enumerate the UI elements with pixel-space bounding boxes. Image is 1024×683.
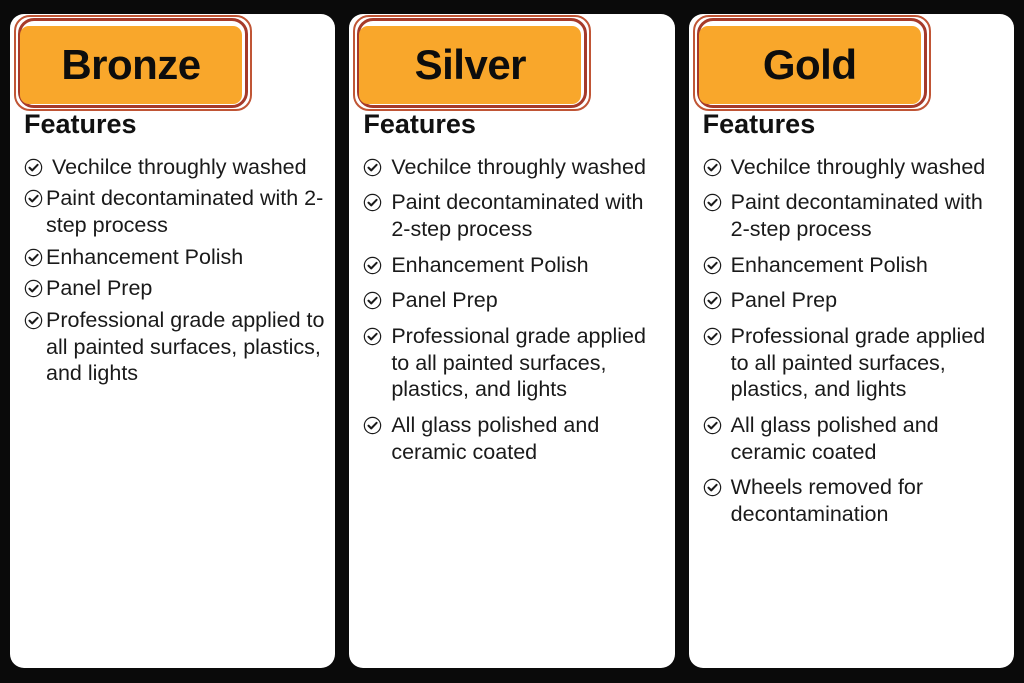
check-circle-icon: [363, 193, 382, 212]
list-item: Paint decontaminated with 2-step process: [363, 189, 664, 242]
check-circle-icon: [24, 311, 43, 330]
check-circle-icon: [24, 189, 43, 208]
feature-text: Enhancement Polish: [46, 244, 325, 271]
feature-text: Paint decontaminated with 2-step process: [731, 189, 1004, 242]
feature-text: All glass polished and ceramic coated: [731, 412, 1004, 465]
feature-text: Enhancement Polish: [731, 252, 1004, 279]
feature-list-gold: Vechilce throughly washed Paint decontam…: [689, 154, 1014, 668]
list-item: Professional grade applied to all painte…: [703, 323, 1004, 403]
check-circle-icon: [363, 291, 382, 310]
feature-text: Panel Prep: [391, 287, 664, 314]
feature-list-silver: Vechilce throughly washed Paint decontam…: [349, 154, 674, 668]
tier-badge-silver: Silver: [359, 26, 581, 104]
list-item: Paint decontaminated with 2-step process: [24, 185, 325, 238]
list-item: Vechilce throughly washed: [363, 154, 664, 181]
tier-card-gold[interactable]: Gold Features Vechilce throughly washed …: [689, 14, 1014, 668]
list-item: Panel Prep: [363, 287, 664, 314]
tier-card-silver[interactable]: Silver Features Vechilce throughly washe…: [349, 14, 674, 668]
feature-text: Vechilce throughly washed: [391, 154, 664, 181]
card-header-silver: Silver: [349, 14, 674, 110]
feature-text: Professional grade applied to all painte…: [46, 307, 325, 387]
list-item: Enhancement Polish: [24, 244, 325, 271]
check-circle-icon: [703, 416, 722, 435]
features-heading-silver: Features: [349, 110, 674, 140]
feature-text: Panel Prep: [46, 275, 325, 302]
check-circle-icon: [703, 291, 722, 310]
list-item: Professional grade applied to all painte…: [24, 307, 325, 387]
check-circle-icon: [363, 416, 382, 435]
check-circle-icon: [24, 158, 43, 177]
check-circle-icon: [363, 256, 382, 275]
feature-text: Professional grade applied to all painte…: [731, 323, 1004, 403]
pricing-tier-board: Bronze Features Vechilce throughly washe…: [0, 0, 1024, 683]
feature-list-bronze: Vechilce throughly washed Paint decontam…: [10, 154, 335, 668]
feature-text: Wheels removed for decontamination: [731, 474, 1004, 527]
tier-name-gold: Gold: [763, 44, 857, 86]
features-heading-bronze: Features: [10, 110, 335, 140]
feature-text: Panel Prep: [731, 287, 1004, 314]
check-circle-icon: [703, 327, 722, 346]
feature-text: All glass polished and ceramic coated: [391, 412, 664, 465]
check-circle-icon: [24, 248, 43, 267]
feature-text: Professional grade applied to all painte…: [391, 323, 664, 403]
list-item: Panel Prep: [24, 275, 325, 302]
check-circle-icon: [363, 158, 382, 177]
list-item: Wheels removed for decontamination: [703, 474, 1004, 527]
feature-text: Enhancement Polish: [391, 252, 664, 279]
list-item: All glass polished and ceramic coated: [703, 412, 1004, 465]
feature-text: Vechilce throughly washed: [731, 154, 1004, 181]
check-circle-icon: [703, 158, 722, 177]
list-item: Paint decontaminated with 2-step process: [703, 189, 1004, 242]
feature-text: Paint decontaminated with 2-step process: [46, 185, 325, 238]
card-header-gold: Gold: [689, 14, 1014, 110]
tier-card-bronze[interactable]: Bronze Features Vechilce throughly washe…: [10, 14, 335, 668]
list-item: Panel Prep: [703, 287, 1004, 314]
features-heading-gold: Features: [689, 110, 1014, 140]
check-circle-icon: [703, 193, 722, 212]
list-item: Vechilce throughly washed: [703, 154, 1004, 181]
list-item: Enhancement Polish: [363, 252, 664, 279]
tier-badge-gold: Gold: [699, 26, 921, 104]
list-item: All glass polished and ceramic coated: [363, 412, 664, 465]
check-circle-icon: [363, 327, 382, 346]
check-circle-icon: [703, 478, 722, 497]
check-circle-icon: [24, 279, 43, 298]
check-circle-icon: [703, 256, 722, 275]
feature-text: Paint decontaminated with 2-step process: [391, 189, 664, 242]
list-item: Vechilce throughly washed: [24, 154, 325, 181]
feature-text: Vechilce throughly washed: [52, 154, 325, 181]
list-item: Enhancement Polish: [703, 252, 1004, 279]
tier-name-bronze: Bronze: [61, 44, 200, 86]
tier-name-silver: Silver: [415, 44, 526, 86]
card-header-bronze: Bronze: [10, 14, 335, 110]
list-item: Professional grade applied to all painte…: [363, 323, 664, 403]
tier-badge-bronze: Bronze: [20, 26, 242, 104]
